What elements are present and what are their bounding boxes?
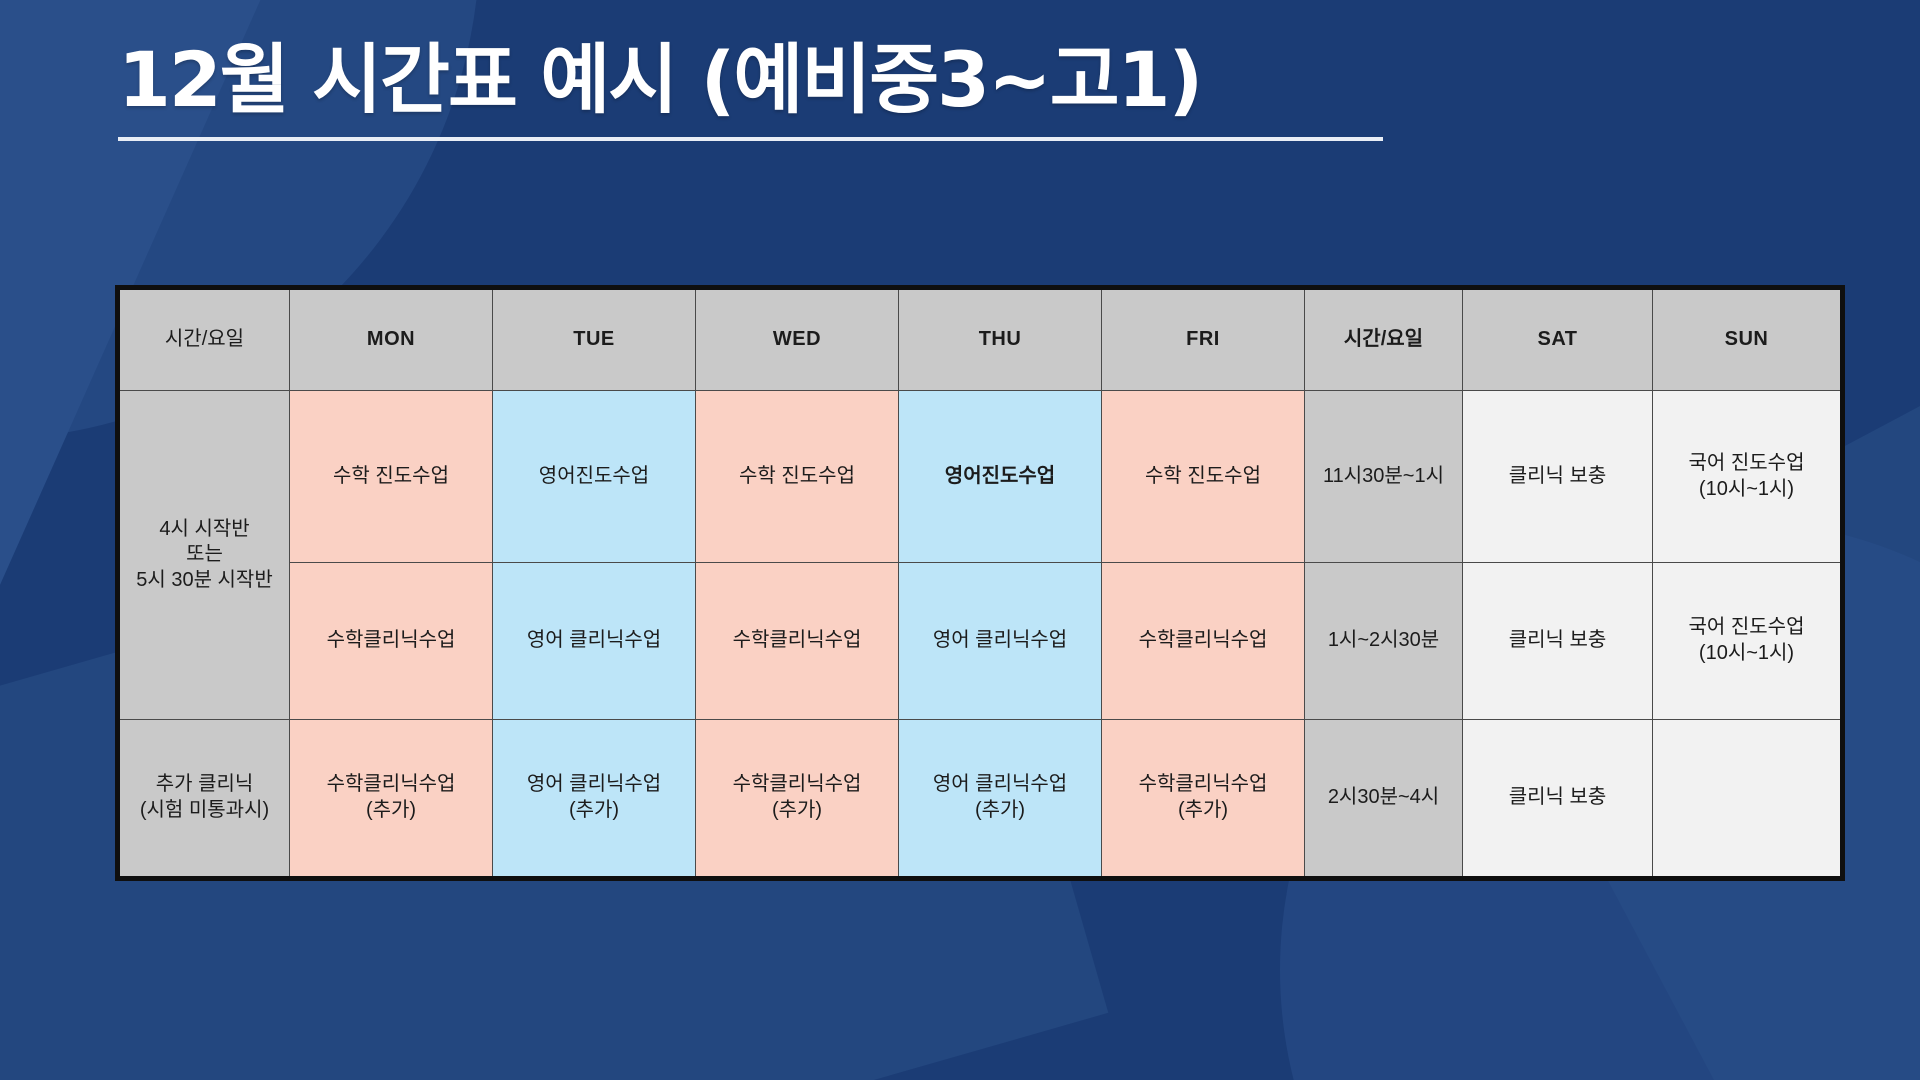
extra-clinic-line-2: (시험 미통과시) <box>126 798 283 824</box>
schedule-table: 시간/요일 MON TUE WED THU FRI 시간/요일 SAT SUN … <box>115 285 1845 881</box>
header-time-weekday-right: 시간/요일 <box>1305 288 1463 391</box>
start-time-line-1: 4시 시작반 <box>126 517 283 543</box>
cell-r1-mon: 수학 진도수업 <box>290 391 493 563</box>
cell-r2-sun-line-2: (10시~1시) <box>1659 641 1834 667</box>
cell-r3-fri-line-2: (추가) <box>1108 798 1298 824</box>
cell-r3-tue: 영어 클리닉수업 (추가) <box>493 720 696 879</box>
cell-r2-sun-line-1: 국어 진도수업 <box>1659 615 1834 641</box>
cell-r1-sun-line-2: (10시~1시) <box>1659 477 1834 503</box>
cell-r3-thu-line-1: 영어 클리닉수업 <box>905 772 1095 798</box>
cell-r1-time-range: 11시30분~1시 <box>1305 391 1463 563</box>
cell-r1-sat: 클리닉 보충 <box>1463 391 1653 563</box>
header-time-weekday-left: 시간/요일 <box>118 288 290 391</box>
cell-r1-sun-line-1: 국어 진도수업 <box>1659 451 1834 477</box>
schedule-table-wrapper: 시간/요일 MON TUE WED THU FRI 시간/요일 SAT SUN … <box>115 285 1845 881</box>
cell-r3-tue-line-2: (추가) <box>499 798 689 824</box>
table-row-3: 추가 클리닉 (시험 미통과시) 수학클리닉수업 (추가) 영어 클리닉수업 (… <box>118 720 1843 879</box>
cell-r3-thu: 영어 클리닉수업 (추가) <box>899 720 1102 879</box>
cell-r3-mon-line-1: 수학클리닉수업 <box>296 772 486 798</box>
cell-r1-wed: 수학 진도수업 <box>696 391 899 563</box>
cell-r2-fri: 수학클리닉수업 <box>1102 563 1305 720</box>
header-sun: SUN <box>1653 288 1843 391</box>
cell-r3-thu-line-2: (추가) <box>905 798 1095 824</box>
cell-r2-sat: 클리닉 보충 <box>1463 563 1653 720</box>
header-sat: SAT <box>1463 288 1653 391</box>
cell-r3-mon-line-2: (추가) <box>296 798 486 824</box>
header-mon: MON <box>290 288 493 391</box>
row-label-extra-clinic: 추가 클리닉 (시험 미통과시) <box>118 720 290 879</box>
cell-r3-sun <box>1653 720 1843 879</box>
table-row-1: 4시 시작반 또는 5시 30분 시작반 수학 진도수업 영어진도수업 수학 진… <box>118 391 1843 563</box>
cell-r3-mon: 수학클리닉수업 (추가) <box>290 720 493 879</box>
cell-r3-wed-line-1: 수학클리닉수업 <box>702 772 892 798</box>
extra-clinic-line-1: 추가 클리닉 <box>126 772 283 798</box>
cell-r1-tue: 영어진도수업 <box>493 391 696 563</box>
cell-r2-wed: 수학클리닉수업 <box>696 563 899 720</box>
cell-r3-fri-line-1: 수학클리닉수업 <box>1108 772 1298 798</box>
header-tue: TUE <box>493 288 696 391</box>
cell-r1-sun: 국어 진도수업 (10시~1시) <box>1653 391 1843 563</box>
table-row-2: 수학클리닉수업 영어 클리닉수업 수학클리닉수업 영어 클리닉수업 수학클리닉수… <box>118 563 1843 720</box>
cell-r2-time-range: 1시~2시30분 <box>1305 563 1463 720</box>
cell-r2-sun: 국어 진도수업 (10시~1시) <box>1653 563 1843 720</box>
start-time-line-3: 5시 30분 시작반 <box>126 568 283 594</box>
cell-r3-sat: 클리닉 보충 <box>1463 720 1653 879</box>
row-label-start-times: 4시 시작반 또는 5시 30분 시작반 <box>118 391 290 720</box>
page-title: 12월 시간표 예시 (예비중3~고1) <box>118 36 1418 123</box>
table-header-row: 시간/요일 MON TUE WED THU FRI 시간/요일 SAT SUN <box>118 288 1843 391</box>
header-fri: FRI <box>1102 288 1305 391</box>
title-block: 12월 시간표 예시 (예비중3~고1) <box>118 36 1418 141</box>
cell-r3-fri: 수학클리닉수업 (추가) <box>1102 720 1305 879</box>
cell-r3-time-range: 2시30분~4시 <box>1305 720 1463 879</box>
header-wed: WED <box>696 288 899 391</box>
cell-r3-wed: 수학클리닉수업 (추가) <box>696 720 899 879</box>
cell-r2-tue: 영어 클리닉수업 <box>493 563 696 720</box>
title-underline-rule <box>118 137 1383 141</box>
header-thu: THU <box>899 288 1102 391</box>
cell-r1-fri: 수학 진도수업 <box>1102 391 1305 563</box>
cell-r3-tue-line-1: 영어 클리닉수업 <box>499 772 689 798</box>
start-time-line-2: 또는 <box>126 542 283 568</box>
cell-r1-thu: 영어진도수업 <box>899 391 1102 563</box>
slide-canvas: 12월 시간표 예시 (예비중3~고1) 시간/요일 MON TUE WED T… <box>0 0 1920 1080</box>
cell-r3-wed-line-2: (추가) <box>702 798 892 824</box>
cell-r2-thu: 영어 클리닉수업 <box>899 563 1102 720</box>
cell-r2-mon: 수학클리닉수업 <box>290 563 493 720</box>
